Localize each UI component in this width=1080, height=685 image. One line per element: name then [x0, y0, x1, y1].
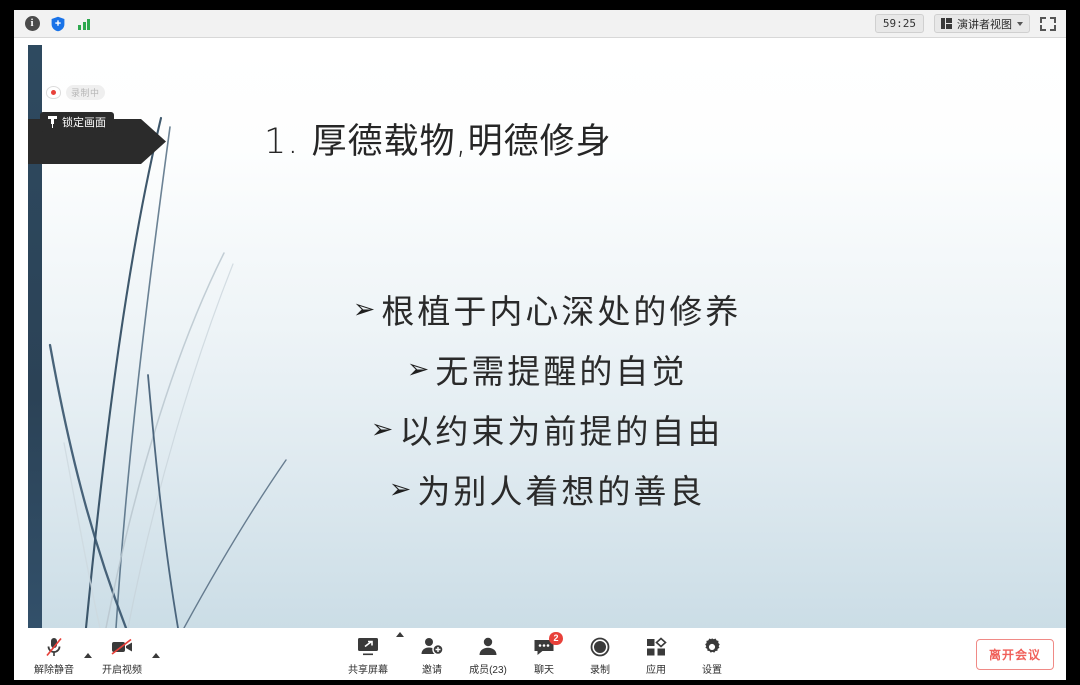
- bottom-toolbar-center: 共享屏幕 邀请: [340, 632, 740, 676]
- camera-off-icon: [110, 636, 134, 658]
- unmute-button[interactable]: 解除静音: [26, 632, 82, 676]
- bullet-marker-icon: ➢: [407, 354, 433, 385]
- bottom-toolbar: 解除静音 开启视频: [14, 628, 1066, 680]
- apps-button[interactable]: 应用: [628, 632, 684, 676]
- gear-icon: [701, 636, 723, 658]
- bullet-marker-icon: ➢: [353, 294, 379, 325]
- bullet-text: 无需提醒的自觉: [435, 345, 687, 393]
- top-toolbar-left: i: [14, 15, 93, 33]
- view-mode-selector[interactable]: 演讲者视图: [934, 14, 1030, 33]
- view-mode-label: 演讲者视图: [957, 16, 1012, 32]
- chat-unread-badge: 2: [549, 632, 563, 645]
- person-add-icon: [420, 636, 444, 658]
- top-toolbar-right: 59:25 演讲者视图: [875, 14, 1066, 33]
- bullet-marker-icon: ➢: [389, 474, 415, 505]
- bullet-item: ➢ 为别人着想的善良: [389, 465, 706, 513]
- bullet-text: 为别人着想的善良: [417, 465, 705, 513]
- bottom-toolbar-left: 解除静音 开启视频: [14, 632, 160, 676]
- invite-button[interactable]: 邀请: [404, 632, 460, 676]
- recording-indicator: 录制中: [46, 85, 105, 100]
- top-toolbar: i 59:25 演讲者视图: [14, 10, 1066, 38]
- lock-screen-button[interactable]: 锁定画面: [40, 112, 114, 132]
- share-screen-button[interactable]: 共享屏幕: [340, 632, 396, 676]
- bullet-item: ➢ 根植于内心深处的修养: [353, 285, 742, 333]
- record-button[interactable]: 录制: [572, 632, 628, 676]
- chat-button[interactable]: 2 聊天: [516, 632, 572, 676]
- apps-grid-icon: [645, 636, 667, 658]
- leave-meeting-button[interactable]: 离开会议: [976, 639, 1054, 670]
- security-shield-icon[interactable]: [49, 15, 67, 33]
- record-circle-icon: [589, 636, 611, 658]
- layout-icon: [941, 18, 952, 29]
- chat-label: 聊天: [534, 661, 554, 676]
- start-video-button[interactable]: 开启视频: [94, 632, 150, 676]
- settings-label: 设置: [702, 661, 722, 676]
- meeting-window: i 59:25 演讲者视图: [0, 0, 1080, 685]
- recording-label: 录制中: [66, 85, 105, 100]
- participants-icon: [476, 636, 500, 658]
- settings-button[interactable]: 设置: [684, 632, 740, 676]
- record-dot-icon: [46, 86, 61, 99]
- video-options-chevron-icon[interactable]: [152, 653, 160, 658]
- bullet-text: 以约束为前提的自由: [399, 405, 723, 453]
- record-label: 录制: [590, 661, 610, 676]
- slide-title: 1. 厚德载物,明德修身: [264, 113, 612, 164]
- chevron-down-icon: [1017, 22, 1023, 26]
- unmute-label: 解除静音: [34, 661, 74, 676]
- lock-screen-label: 锁定画面: [62, 114, 106, 130]
- meeting-timer: 59:25: [875, 14, 924, 33]
- bullet-item: ➢ 以约束为前提的自由: [371, 405, 724, 453]
- apps-label: 应用: [646, 661, 666, 676]
- info-icon[interactable]: i: [23, 15, 41, 33]
- bullet-item: ➢ 无需提醒的自觉: [407, 345, 688, 393]
- share-screen-icon: [356, 636, 380, 658]
- start-video-label: 开启视频: [102, 661, 142, 676]
- presentation-slide: 1. 厚德载物,明德修身 ➢ 根植于内心深处的修养 ➢ 无需提醒的自觉 ➢ 以约…: [28, 45, 1066, 628]
- shared-screen-stage: 1. 厚德载物,明德修身 ➢ 根植于内心深处的修养 ➢ 无需提醒的自觉 ➢ 以约…: [14, 38, 1066, 628]
- exit-fullscreen-icon[interactable]: [1040, 17, 1056, 31]
- slide-bullet-list: ➢ 根植于内心深处的修养 ➢ 无需提醒的自觉 ➢ 以约束为前提的自由 ➢ 为别人…: [28, 285, 1066, 513]
- audio-options-chevron-icon[interactable]: [84, 653, 92, 658]
- invite-label: 邀请: [422, 661, 442, 676]
- share-screen-label: 共享屏幕: [348, 661, 388, 676]
- bullet-text: 根植于内心深处的修养: [381, 285, 741, 333]
- pin-icon: [48, 116, 57, 128]
- bottom-toolbar-right: 离开会议: [976, 639, 1066, 670]
- participants-button[interactable]: 成员(23): [460, 632, 516, 676]
- share-options-chevron-icon[interactable]: [396, 632, 404, 637]
- bullet-marker-icon: ➢: [371, 414, 397, 445]
- network-signal-icon[interactable]: [75, 15, 93, 33]
- participants-label: 成员(23): [469, 661, 507, 676]
- microphone-muted-icon: [44, 636, 64, 658]
